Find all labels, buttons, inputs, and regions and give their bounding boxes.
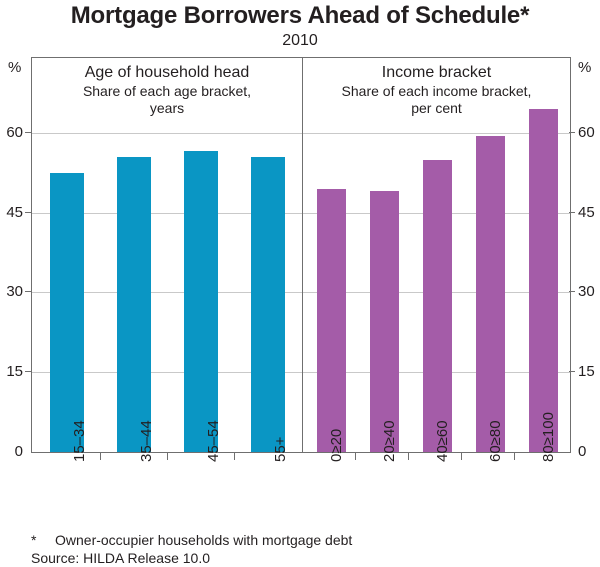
- x-label-age-55-plus: 55+: [273, 437, 288, 462]
- gridline-60: [32, 133, 302, 134]
- x-tick-age-3: [234, 453, 235, 460]
- panel-age-of-household-head: Age of household head Share of each age …: [31, 57, 302, 453]
- panel-income-subtitle-line1: Share of each income bracket,: [303, 83, 570, 100]
- bar-age-55-plus[interactable]: [251, 157, 285, 452]
- chart-figure: Mortgage Borrowers Ahead of Schedule* 20…: [0, 0, 600, 567]
- bar-income-60-80[interactable]: [476, 136, 505, 452]
- panel-age-subtitle-line1: Share of each age bracket,: [32, 83, 302, 100]
- panel-age-heading: Age of household head Share of each age …: [32, 63, 302, 117]
- y-label-right-0: 0: [578, 444, 586, 459]
- panel-income-title: Income bracket: [303, 63, 570, 83]
- y-label-right-30: 30: [578, 284, 595, 299]
- bar-income-80-100[interactable]: [529, 109, 558, 452]
- bar-income-20-40[interactable]: [370, 191, 399, 452]
- y-label-left-45: 45: [6, 205, 23, 220]
- x-label-income-0-20: 0≥20: [329, 429, 344, 462]
- x-label-income-20-40: 20≥40: [382, 420, 397, 462]
- y-tick-right-15: [569, 371, 575, 372]
- y-tick-right-30: [569, 291, 575, 292]
- y-tick-right-45: [569, 212, 575, 213]
- x-label-income-60-80: 60≥80: [488, 420, 503, 462]
- y-tick-right-60: [569, 132, 575, 133]
- chart-title: Mortgage Borrowers Ahead of Schedule*: [0, 2, 600, 30]
- panel-income-bracket: Income bracket Share of each income brac…: [302, 57, 571, 453]
- x-tick-age-1: [100, 453, 101, 460]
- x-label-age-35-44: 35–44: [139, 420, 154, 462]
- y-label-left-60: 60: [6, 125, 23, 140]
- footnote-marker: *: [31, 531, 36, 549]
- x-label-age-15-34: 15–34: [72, 420, 87, 462]
- y-label-left-0: 0: [15, 444, 23, 459]
- source-note: Source: HILDA Release 10.0: [31, 549, 210, 567]
- panel-age-title: Age of household head: [32, 63, 302, 83]
- x-tick-income-1: [355, 453, 356, 460]
- y-label-left-30: 30: [6, 284, 23, 299]
- footnote-text: Owner-occupier households with mortgage …: [55, 531, 352, 549]
- x-label-income-40-60: 40≥60: [435, 420, 450, 462]
- y-label-right-60: 60: [578, 125, 595, 140]
- bar-age-35-44[interactable]: [117, 157, 151, 452]
- y-tick-left-30: [25, 291, 31, 292]
- y-label-right-45: 45: [578, 205, 595, 220]
- x-tick-age-2: [167, 453, 168, 460]
- bar-age-45-54[interactable]: [184, 151, 218, 452]
- panel-age-subtitle-line2: years: [32, 100, 302, 117]
- bar-age-15-34[interactable]: [50, 173, 84, 452]
- bar-income-40-60[interactable]: [423, 160, 452, 452]
- x-tick-income-3: [461, 453, 462, 460]
- bar-income-0-20[interactable]: [317, 189, 346, 452]
- x-tick-income-2: [408, 453, 409, 460]
- x-label-income-80-100: 80≥100: [541, 412, 556, 462]
- y-label-right-15: 15: [578, 364, 595, 379]
- x-label-age-45-54: 45–54: [206, 420, 221, 462]
- y-axis-unit-left: %: [8, 59, 21, 76]
- y-tick-left-45: [25, 212, 31, 213]
- y-label-left-15: 15: [6, 364, 23, 379]
- y-axis-unit-right: %: [578, 59, 591, 76]
- y-tick-left-60: [25, 132, 31, 133]
- x-tick-income-4: [514, 453, 515, 460]
- y-tick-left-15: [25, 371, 31, 372]
- chart-subtitle: 2010: [0, 32, 600, 50]
